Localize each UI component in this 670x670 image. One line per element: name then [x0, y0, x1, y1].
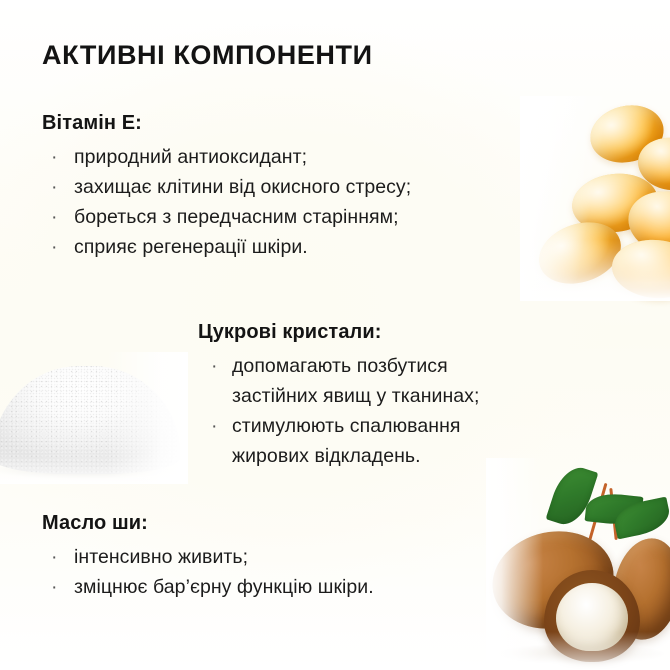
section-heading-shea-butter: Масло ши:	[42, 512, 374, 535]
ingredients-infographic-card: АКТИВНІ КОМПОНЕНТИ Вітамін Е: · природни…	[0, 0, 670, 670]
list-item-text: бореться з передчасним старінням;	[74, 206, 399, 228]
shea-nuts-image	[486, 458, 670, 670]
list-item: · захищає клітини від окисного стресу;	[42, 172, 411, 202]
bullet-marker-icon: ·	[211, 351, 218, 381]
list-item: · зміцнює бар’єрну функцію шкіри.	[42, 572, 374, 602]
list-item-text: захищає клітини від окисного стресу;	[74, 176, 411, 198]
bullet-list-vitamin-e: · природний антиоксидант; · захищає кліт…	[42, 142, 411, 262]
page-title: АКТИВНІ КОМПОНЕНТИ	[42, 40, 373, 71]
bullet-list-shea-butter: · інтенсивно живить; · зміцнює бар’єрну …	[42, 542, 374, 602]
bullet-marker-icon: ·	[51, 172, 58, 202]
bullet-list-sugar-crystals: · допомагають позбутися застійних явищ у…	[198, 351, 479, 471]
section-heading-sugar-crystals: Цукрові кристали:	[198, 321, 479, 344]
list-item: · бореться з передчасним старінням;	[42, 202, 411, 232]
list-item-continuation: застійних явищ у тканинах;	[198, 381, 479, 411]
list-item-text: застійних явищ у тканинах;	[232, 385, 479, 407]
section-vitamin-e: Вітамін Е: · природний антиоксидант; · з…	[42, 112, 411, 262]
list-item-text: допомагають позбутися	[232, 355, 448, 377]
sugar-crystal-pile-image	[0, 352, 188, 484]
list-item-text: зміцнює бар’єрну функцію шкіри.	[74, 576, 374, 598]
list-item: · природний антиоксидант;	[42, 142, 411, 172]
section-sugar-crystals: Цукрові кристали: · допомагають позбутис…	[198, 321, 479, 471]
sugar-edge-fade	[0, 352, 188, 484]
list-item: · стимулюють спалювання	[198, 411, 479, 441]
bullet-marker-icon: ·	[51, 572, 58, 602]
bullet-marker-icon: ·	[211, 411, 218, 441]
list-item: · сприяє регенерації шкіри.	[42, 232, 411, 262]
list-item-text: сприяє регенерації шкіри.	[74, 236, 308, 258]
bullet-marker-icon: ·	[51, 232, 58, 262]
vitamin-e-softgel-capsules-image	[520, 96, 670, 301]
section-shea-butter: Масло ши: · інтенсивно живить; · зміцнює…	[42, 512, 374, 602]
list-item-text: природний антиоксидант;	[74, 146, 307, 168]
bullet-marker-icon: ·	[51, 542, 58, 572]
list-item-text: інтенсивно живить;	[74, 546, 248, 568]
section-heading-vitamin-e: Вітамін Е:	[42, 112, 411, 135]
bullet-marker-icon: ·	[51, 142, 58, 172]
list-item: · допомагають позбутися	[198, 351, 479, 381]
list-item-text: жирових відкладень.	[232, 445, 421, 467]
list-item: · інтенсивно живить;	[42, 542, 374, 572]
list-item-text: стимулюють спалювання	[232, 415, 461, 437]
bullet-marker-icon: ·	[51, 202, 58, 232]
capsules-edge-fade	[520, 96, 670, 301]
shea-edge-fade	[486, 458, 670, 670]
list-item-continuation: жирових відкладень.	[198, 441, 479, 471]
